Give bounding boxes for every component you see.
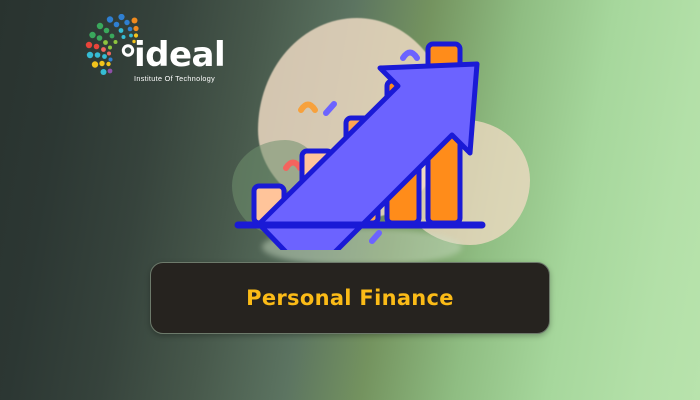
page-title: Personal Finance (246, 286, 454, 310)
logo-tagline: Institute Of Technology (134, 74, 244, 84)
chevron-accent-blue-icon (403, 53, 417, 59)
dash-accent-blue-icon (326, 104, 334, 113)
growth-bar-chart-illustration (232, 18, 492, 250)
banner-root: ideal Institute Of Technology Personal F… (0, 0, 700, 400)
logo-wordmark: ideal (134, 38, 244, 72)
chevron-accent-red-icon (286, 163, 300, 169)
chevron-accent-orange-icon (301, 105, 315, 111)
ideal-logo: ideal Institute Of Technology (74, 14, 214, 94)
dash-accent-blue-lower-icon (372, 233, 379, 241)
logo-text-block: ideal Institute Of Technology (134, 38, 244, 84)
title-plate[interactable]: Personal Finance (150, 262, 550, 334)
